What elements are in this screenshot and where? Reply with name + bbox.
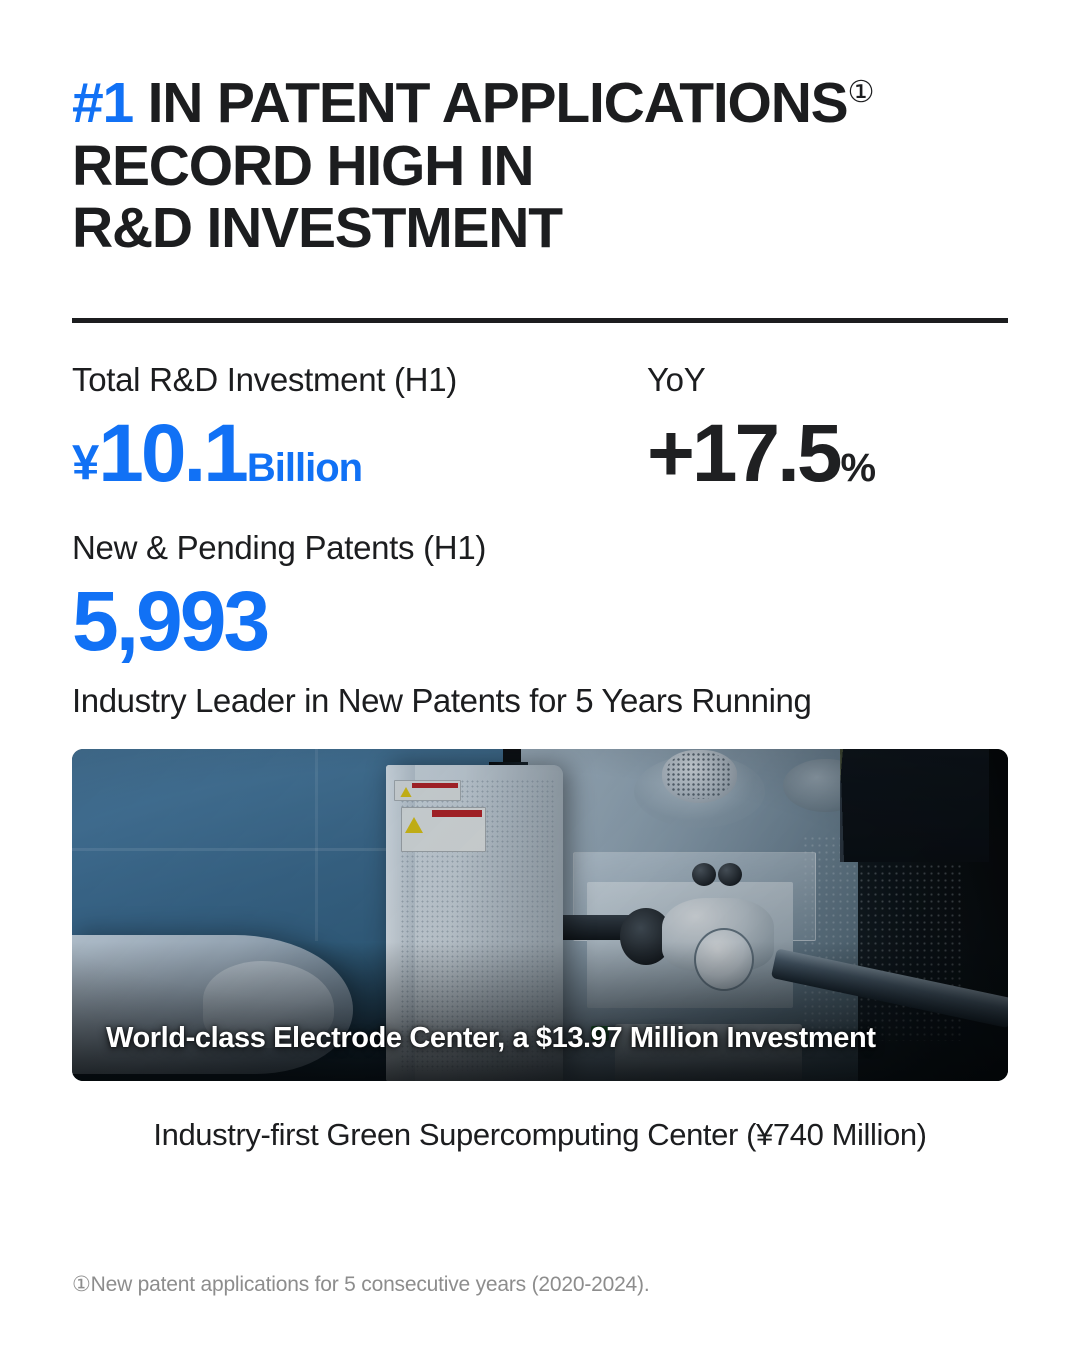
stat-yoy: YoY +17.5% xyxy=(647,361,1008,495)
footnote-text: ①New patent applications for 5 consecuti… xyxy=(72,1272,649,1297)
rank-badge: #1 xyxy=(72,71,133,135)
supercomputing-line: Industry-first Green Supercomputing Cent… xyxy=(72,1117,1008,1153)
stat-investment-unit: Billion xyxy=(247,448,362,488)
electrode-center-photo: World-class Electrode Center, a $13.97 M… xyxy=(72,749,1008,1081)
stat-investment-label: Total R&D Investment (H1) xyxy=(72,361,647,399)
stat-yoy-value: +17.5% xyxy=(647,413,1008,495)
stat-patents-label: New & Pending Patents (H1) xyxy=(72,529,1008,567)
stats-row: Total R&D Investment (H1) ¥10.1Billion Y… xyxy=(72,361,1008,495)
footnote-marker-icon: ① xyxy=(847,76,874,109)
stat-patents-number: 5,993 xyxy=(72,577,1008,665)
stat-yoy-number: +17.5 xyxy=(647,413,839,495)
headline-line-1: #1 IN PATENT APPLICATIONS① xyxy=(72,72,1008,135)
stat-patents-subtitle: Industry Leader in New Patents for 5 Yea… xyxy=(72,681,1008,721)
stat-patents: New & Pending Patents (H1) 5,993 Industr… xyxy=(72,529,1008,721)
stat-investment-number: 10.1 xyxy=(98,413,246,495)
header-divider xyxy=(72,318,1008,323)
stat-investment-value: ¥10.1Billion xyxy=(72,413,647,495)
percent-symbol-icon: % xyxy=(840,448,875,488)
yen-symbol-icon: ¥ xyxy=(72,439,98,488)
page-title: #1 IN PATENT APPLICATIONS① RECORD HIGH I… xyxy=(72,0,1008,260)
photo-caption: World-class Electrode Center, a $13.97 M… xyxy=(106,1022,876,1055)
headline-line-3: R&D INVESTMENT xyxy=(72,197,1008,260)
headline-line-2: RECORD HIGH IN xyxy=(72,135,1008,198)
headline-line-1-rest: IN PATENT APPLICATIONS xyxy=(133,71,847,135)
infographic-page: #1 IN PATENT APPLICATIONS① RECORD HIGH I… xyxy=(0,0,1080,1350)
stat-yoy-label: YoY xyxy=(647,361,1008,399)
stat-investment: Total R&D Investment (H1) ¥10.1Billion xyxy=(72,361,647,495)
